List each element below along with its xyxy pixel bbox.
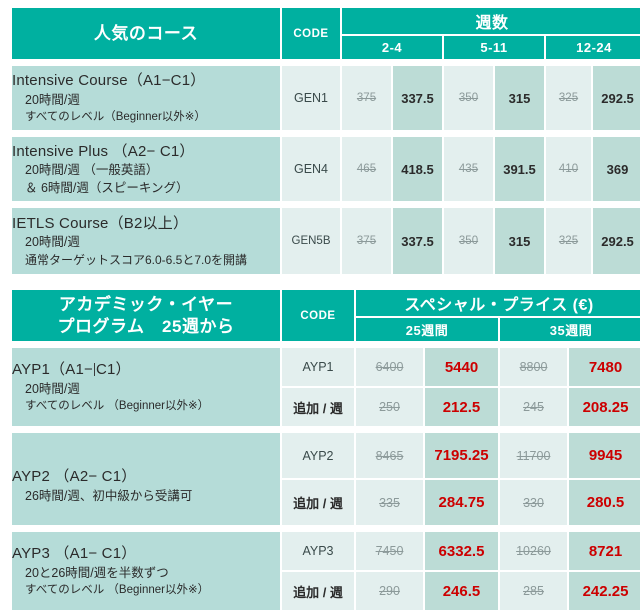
new-price: 9945: [569, 433, 640, 478]
table1-header-row-top: 人気のコース CODE 週数: [12, 8, 640, 34]
course-code: GEN5B: [282, 208, 340, 274]
new-price: 284.75: [425, 480, 498, 525]
program-name-line2: 26時間/週、初中級から受講可: [12, 488, 280, 506]
old-price: 350: [444, 66, 493, 130]
course-name-line1: IETLS Course（B2以上）: [12, 213, 280, 234]
popular-courses-title: 人気のコース: [12, 8, 280, 59]
program-name-line1: AYP3 （A1− C1）: [12, 543, 280, 564]
new-price: 418.5: [393, 137, 442, 201]
old-price: 335: [356, 480, 423, 525]
academic-year-title-line1: アカデミック・イヤー: [12, 294, 280, 315]
new-price: 337.5: [393, 66, 442, 130]
new-price: 280.5: [569, 480, 640, 525]
old-price: 6400: [356, 348, 423, 386]
program-code: AYP1: [282, 348, 354, 386]
weeks-group-header: 週数: [342, 8, 640, 34]
program-name-line3: すべてのレベル （Beginner以外※）: [12, 582, 280, 598]
old-price: 7450: [356, 532, 423, 570]
course-name-line2: 20時間/週 （一般英語）: [12, 162, 280, 180]
price-tables-sheet: 人気のコース CODE 週数 2-4 5-11 12-24 Intensive …: [0, 0, 640, 601]
table-row: AYP2 （A2− C1） 26時間/週、初中級から受講可 AYP2 8465 …: [12, 433, 640, 478]
program-name-cell: AYP2 （A2− C1） 26時間/週、初中級から受講可: [12, 433, 280, 525]
old-price: 435: [444, 137, 493, 201]
old-price: 285: [500, 572, 567, 610]
program-name-line2: 20と26時間/週を半数ずつ: [12, 565, 280, 583]
extra-week-label: 追加 / 週: [282, 388, 354, 426]
spacer: [12, 132, 640, 135]
program-code: AYP2: [282, 433, 354, 478]
week-band-5-11: 5-11: [444, 36, 544, 59]
old-price: 325: [546, 66, 591, 130]
week-band-35: 35週間: [500, 318, 640, 341]
new-price: 208.25: [569, 388, 640, 426]
course-name-cell: IETLS Course（B2以上） 20時間/週 通常ターゲットスコア6.0-…: [12, 208, 280, 274]
new-price: 292.5: [593, 66, 640, 130]
new-price: 315: [495, 66, 544, 130]
program-name-line1: AYP1（A1−C1）: [12, 359, 280, 380]
program-name-line1-pre: AYP1（A1−: [12, 361, 93, 378]
new-price: 315: [495, 208, 544, 274]
week-band-12-24: 12-24: [546, 36, 640, 59]
old-price: 11700: [500, 433, 567, 478]
academic-year-title-line2: プログラム 25週から: [12, 316, 280, 337]
new-price: 242.25: [569, 572, 640, 610]
old-price: 10260: [500, 532, 567, 570]
course-name-line1: Intensive Plus （A2− C1）: [12, 141, 280, 162]
new-price: 5440: [425, 348, 498, 386]
table-row: Intensive Plus （A2− C1） 20時間/週 （一般英語） ＆ …: [12, 137, 640, 201]
spacer: [12, 343, 640, 346]
new-price: 7195.25: [425, 433, 498, 478]
table-row: Intensive Course（A1−C1） 20時間/週 すべてのレベル（B…: [12, 66, 640, 130]
academic-year-code-header: CODE: [282, 290, 354, 341]
course-name-line2: 20時間/週: [12, 234, 280, 252]
new-price: 8721: [569, 532, 640, 570]
course-name-cell: Intensive Plus （A2− C1） 20時間/週 （一般英語） ＆ …: [12, 137, 280, 201]
old-price: 250: [356, 388, 423, 426]
course-name-line3: ＆ 6時間/週（スピーキング）: [12, 180, 280, 198]
new-price: 7480: [569, 348, 640, 386]
program-name-cell: AYP3 （A1− C1） 20と26時間/週を半数ずつ すべてのレベル （Be…: [12, 532, 280, 610]
program-name-line1: AYP2 （A2− C1）: [12, 466, 280, 487]
new-price: 246.5: [425, 572, 498, 610]
text-cursor: [94, 363, 95, 376]
spacer: [12, 527, 640, 530]
special-price-group-header: スペシャル・プライス (€): [356, 290, 640, 316]
old-price: 330: [500, 480, 567, 525]
program-name-line1-post: C1）: [96, 361, 131, 378]
old-price: 350: [444, 208, 493, 274]
new-price: 369: [593, 137, 640, 201]
old-price: 325: [546, 208, 591, 274]
program-name-cell: AYP1（A1−C1） 20時間/週 すべてのレベル （Beginner以外※）: [12, 348, 280, 426]
popular-courses-table: 人気のコース CODE 週数 2-4 5-11 12-24 Intensive …: [10, 6, 640, 276]
program-code: AYP3: [282, 532, 354, 570]
program-name-line2: 20時間/週: [12, 381, 280, 399]
old-price: 8465: [356, 433, 423, 478]
table-row: AYP3 （A1− C1） 20と26時間/週を半数ずつ すべてのレベル （Be…: [12, 532, 640, 570]
course-code: GEN4: [282, 137, 340, 201]
new-price: 292.5: [593, 208, 640, 274]
extra-week-label: 追加 / 週: [282, 572, 354, 610]
old-price: 245: [500, 388, 567, 426]
old-price: 290: [356, 572, 423, 610]
new-price: 212.5: [425, 388, 498, 426]
old-price: 375: [342, 66, 391, 130]
old-price: 375: [342, 208, 391, 274]
spacer: [12, 61, 640, 64]
program-name-line3: すべてのレベル （Beginner以外※）: [12, 398, 280, 414]
course-name-cell: Intensive Course（A1−C1） 20時間/週 すべてのレベル（B…: [12, 66, 280, 130]
week-band-25: 25週間: [356, 318, 498, 341]
old-price: 465: [342, 137, 391, 201]
old-price: 8800: [500, 348, 567, 386]
new-price: 391.5: [495, 137, 544, 201]
week-band-2-4: 2-4: [342, 36, 442, 59]
old-price: 410: [546, 137, 591, 201]
new-price: 337.5: [393, 208, 442, 274]
table-row: IETLS Course（B2以上） 20時間/週 通常ターゲットスコア6.0-…: [12, 208, 640, 274]
academic-year-title: アカデミック・イヤー プログラム 25週から: [12, 290, 280, 341]
course-name-line2: 20時間/週: [12, 92, 280, 110]
spacer: [12, 203, 640, 206]
table2-header-row-top: アカデミック・イヤー プログラム 25週から CODE スペシャル・プライス (…: [12, 290, 640, 316]
extra-week-label: 追加 / 週: [282, 480, 354, 525]
course-name-line3: 通常ターゲットスコア6.0-6.5と7.0を開講: [12, 252, 280, 269]
course-code: GEN1: [282, 66, 340, 130]
table-row: AYP1（A1−C1） 20時間/週 すべてのレベル （Beginner以外※）…: [12, 348, 640, 386]
popular-courses-code-header: CODE: [282, 8, 340, 59]
course-name-line1: Intensive Course（A1−C1）: [12, 70, 280, 91]
new-price: 6332.5: [425, 532, 498, 570]
spacer: [12, 428, 640, 431]
course-name-line3: すべてのレベル（Beginner以外※）: [12, 109, 280, 125]
academic-year-table: アカデミック・イヤー プログラム 25週から CODE スペシャル・プライス (…: [10, 288, 640, 612]
